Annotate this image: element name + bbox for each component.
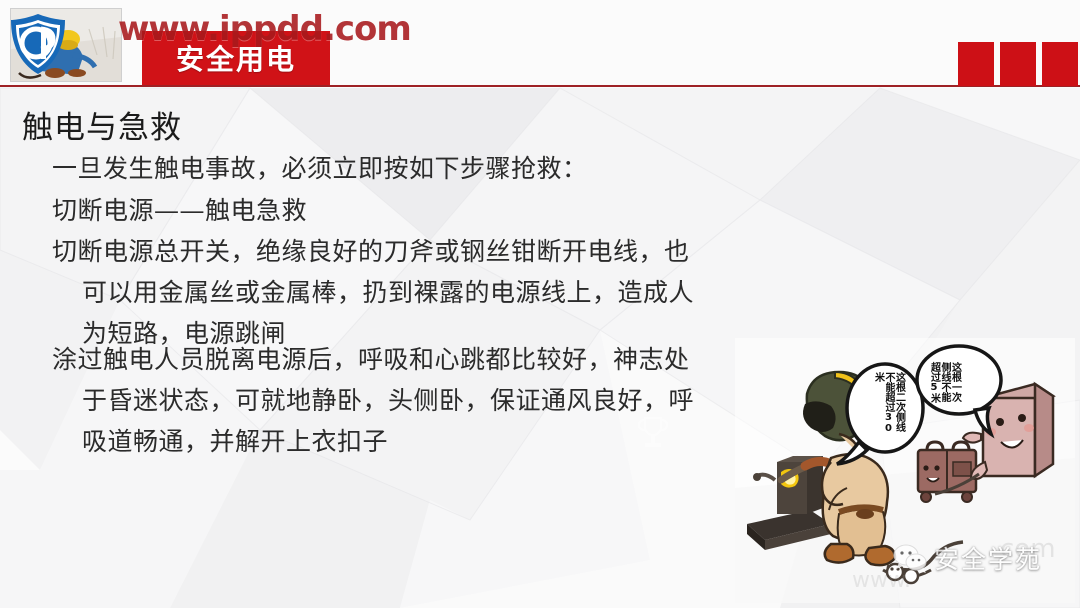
bubble-left-text: 这根二次侧线不能超过30米: [872, 372, 904, 434]
shield-p-icon: [10, 11, 69, 77]
corner-square-1: [958, 42, 994, 86]
paragraph-3-line-2: 可以用金属丝或金属棒，扔到裸露的电源线上，造成人: [52, 272, 764, 313]
wechat-watermark: 安全学苑: [893, 540, 1042, 576]
paragraph-2: 切断电源——触电急救: [52, 190, 752, 231]
corner-square-2: [1000, 42, 1036, 86]
paragraph-4: 涂过触电人员脱离电源后，呼吸和心跳都比较好，神志处 于昏迷状态，可就地静卧，头侧…: [52, 339, 764, 462]
corner-square-3: [1042, 42, 1078, 86]
paragraph-3-line-1: 切断电源总开关，绝缘良好的刀斧或钢丝钳断开电线，也: [52, 237, 690, 266]
watermark-url: www.ippdd.com: [118, 9, 411, 49]
paragraph-4-line-1: 涂过触电人员脱离电源后，呼吸和心跳都比较好，神志处: [52, 345, 690, 374]
section-title: 触电与急救: [22, 102, 182, 147]
bubble-right-text: 这根一次侧线不能超过5米: [928, 362, 960, 408]
wechat-icon: [893, 543, 927, 573]
welding-machine: [918, 442, 976, 502]
paragraph-3: 切断电源总开关，绝缘良好的刀斧或钢丝钳断开电线，也 可以用金属丝或金属棒，扔到裸…: [52, 231, 764, 354]
logo-thumbnail: [10, 8, 122, 82]
slide-canvas: 安全用电 www.ippdd.com 触电与急救 一旦发生触电事故，必须立即按如…: [0, 0, 1080, 608]
header-divider: [0, 85, 1080, 87]
paragraph-4-line-3: 吸道畅通，并解开上衣扣子: [52, 421, 764, 462]
slide-header: 安全用电 www.ippdd.com: [0, 0, 1080, 92]
paragraph-1: 一旦发生触电事故，必须立即按如下步骤抢救：: [52, 148, 752, 189]
wechat-watermark-text: 安全学苑: [934, 540, 1042, 576]
paragraph-4-line-2: 于昏迷状态，可就地静卧，头侧卧，保证通风良好，呼: [52, 380, 764, 421]
